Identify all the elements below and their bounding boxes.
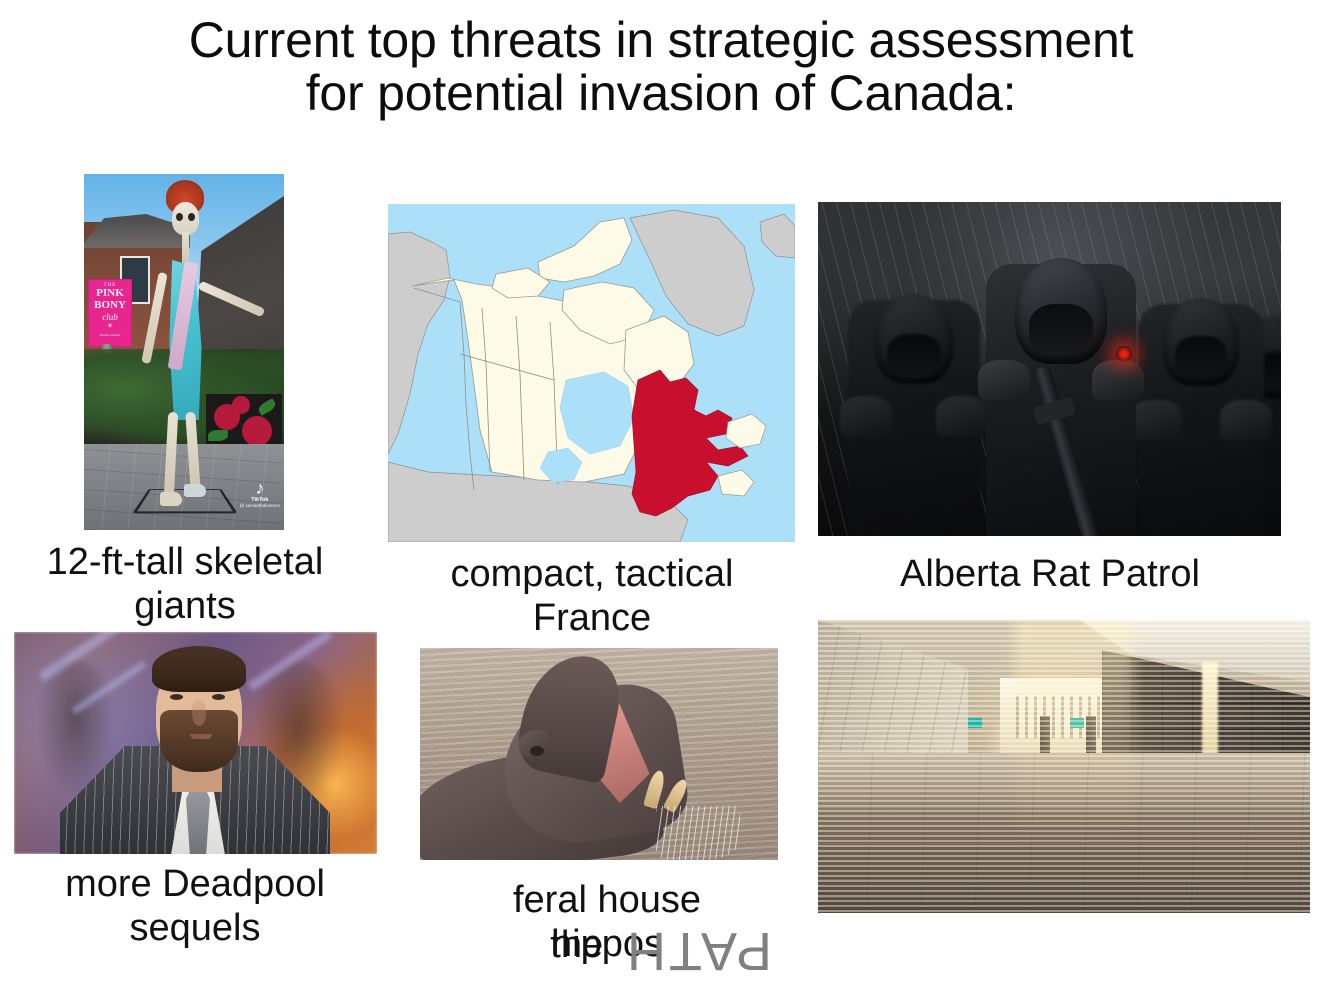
- skeleton-foot-left: [160, 492, 182, 506]
- shoulder-pad: [1092, 360, 1144, 400]
- shoulder-pad: [840, 396, 892, 436]
- spine: [182, 232, 189, 264]
- caption-compact-tactical-france: compact, tactical France: [388, 552, 796, 641]
- image-alberta-rat-patrol: [818, 202, 1281, 536]
- soldier-right: [1138, 304, 1264, 536]
- tiktok-watermark: ♪ TikTok @ samanthalorenzo: [240, 479, 280, 508]
- helmet: [1163, 298, 1239, 386]
- image-canada-map: [388, 204, 795, 542]
- title-line-2: for potential invasion of Canada:: [0, 67, 1322, 120]
- soldier-left: [848, 300, 980, 536]
- visor: [1029, 304, 1093, 356]
- mural-bloom: [242, 416, 272, 446]
- corridor-light-glow: [1014, 620, 1134, 870]
- caption-path-flipped: PATH: [624, 920, 772, 982]
- water-drip: [656, 806, 740, 860]
- title-line-1: Current top threats in strategic assessm…: [0, 14, 1322, 67]
- eye-right: [212, 694, 225, 700]
- helmet: [875, 294, 953, 384]
- skeleton-foot-right: [184, 484, 206, 497]
- image-more-deadpool-sequels: [14, 632, 377, 854]
- music-note-icon: ♪: [240, 479, 280, 497]
- mural-bloom: [232, 396, 250, 414]
- caption-the-path: the PATH: [0, 920, 1322, 982]
- sign-pink: PINK: [89, 288, 131, 300]
- canada-map-svg: [388, 204, 795, 542]
- sign-star-icon: ✶: [89, 322, 131, 330]
- shoulder-pad: [936, 396, 988, 436]
- mouth: [190, 734, 212, 739]
- image-feral-house-hippos: [420, 648, 778, 860]
- nose: [192, 700, 206, 726]
- image-the-path: [818, 620, 1310, 913]
- skeleton-leg-left: [164, 412, 178, 498]
- visor: [887, 334, 941, 378]
- skeleton-leg-right: [185, 412, 201, 493]
- exit-sign: [968, 718, 982, 728]
- caption-alberta-rat-patrol: Alberta Rat Patrol: [818, 552, 1282, 596]
- image-skeletal-giants: THE PINK BONY club ✶ Toronto Ontario ♪ T…: [84, 174, 284, 530]
- eye-left: [170, 694, 183, 700]
- caption-path-prefix: the: [550, 924, 613, 966]
- shoulder-pad: [1130, 400, 1182, 440]
- shoulder-pad: [978, 360, 1030, 400]
- shoulder-pad: [1220, 400, 1272, 440]
- sign-club: club: [89, 312, 131, 322]
- sign-bony: BONY: [89, 300, 131, 312]
- skeleton-figure: [148, 180, 220, 510]
- hippo-eye: [530, 746, 544, 756]
- red-laser-light: [1116, 346, 1132, 362]
- tiktok-handle: @ samanthalorenzo: [240, 503, 280, 508]
- hair: [152, 646, 246, 692]
- mural-leaf: [257, 398, 278, 416]
- sign-footer: Toronto Ontario: [89, 333, 131, 337]
- helmet: [1015, 258, 1107, 364]
- pink-bony-club-sign: THE PINK BONY club ✶ Toronto Ontario: [89, 280, 131, 346]
- page-title: Current top threats in strategic assessm…: [0, 14, 1322, 119]
- skull: [172, 202, 199, 235]
- visor: [1175, 336, 1227, 378]
- caption-skeletal-giants: 12-ft-tall skeletal giants: [0, 540, 370, 629]
